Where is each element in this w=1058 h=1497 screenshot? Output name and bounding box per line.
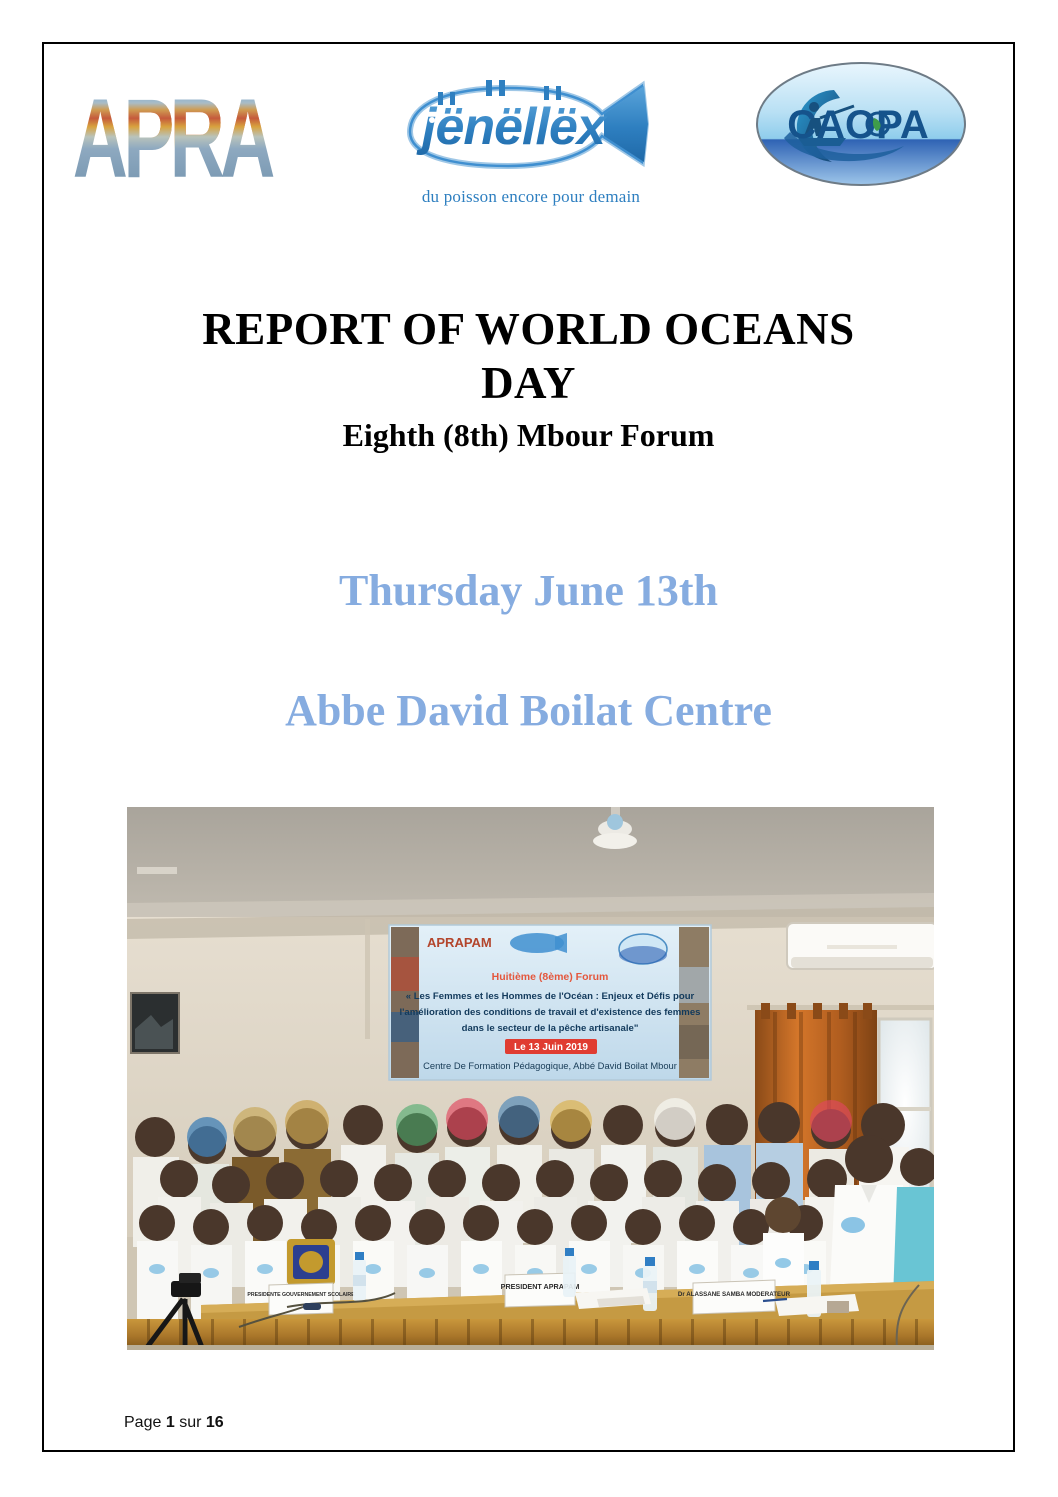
floor <box>127 1345 934 1350</box>
aprapam-logo: APRAPAM <box>64 58 284 218</box>
footer-middle: sur <box>179 1414 201 1431</box>
page-border: APRAPAM <box>42 42 1015 1452</box>
placard-1-label: PRESIDENTE GOUVERNEMENT SCOLAIRE <box>247 1292 355 1298</box>
banner-photo-strip-left <box>391 927 419 1078</box>
water-bottle-2 <box>563 1248 576 1297</box>
banner-theme-line1: « Les Femmes et les Hommes de l'Océan : … <box>406 991 695 1002</box>
water-bottle-1 <box>353 1252 366 1301</box>
caopa-wordmark-text: CAOPA <box>787 103 928 147</box>
jenellex-tagline: du poisson encore pour demain <box>366 187 696 207</box>
banner-heading: Huitième (8ème) Forum <box>492 971 609 983</box>
tripod-head <box>171 1281 201 1297</box>
jenellex-fish-icon: jënëllëx <box>396 62 664 187</box>
jenellex-diaeresis-4 <box>499 80 505 96</box>
event-photograph: APRAPAM Huitième (8ème) Forum « Les Femm… <box>127 807 934 1350</box>
caopa-badge-icon: CAOPA <box>754 60 969 188</box>
banner-date-badge: Le 13 Juin 2019 <box>514 1042 588 1053</box>
jenellex-wordmark-text: jënëllëx <box>416 98 608 156</box>
gold-chair <box>287 1239 335 1285</box>
caopa-logo: CAOPA <box>754 60 969 188</box>
air-conditioner-icon <box>787 923 934 969</box>
fish-eye-icon <box>429 117 435 123</box>
tripod-plate <box>179 1273 201 1283</box>
event-block: Thursday June 13th Abbe David Boilat Cen… <box>44 562 1013 740</box>
page-subtitle: Eighth (8th) Mbour Forum <box>44 414 1013 456</box>
banner-logo-aprapam: APRAPAM <box>427 935 492 950</box>
table-photo-print <box>827 1301 849 1313</box>
logo-header-row: APRAPAM <box>44 44 1013 249</box>
banner-theme-line2: l'amélioration des conditions de travail… <box>399 1007 700 1018</box>
aprapam-wordmark-text: APRAPAM <box>73 54 275 223</box>
banner-venue: Centre De Formation Pédagogique, Abbé Da… <box>423 1060 677 1071</box>
wall-seam <box>365 919 370 1039</box>
ceiling-fixture-left <box>137 867 177 874</box>
photo-scene: APRAPAM Huitième (8ème) Forum « Les Femm… <box>127 807 934 1350</box>
banner-theme-line3: dans le secteur de la pêche artisanale" <box>462 1023 639 1034</box>
cable-connector <box>303 1303 321 1310</box>
page-title-line2: DAY <box>44 356 1013 410</box>
event-date: Thursday June 13th <box>44 562 1013 620</box>
title-block: REPORT OF WORLD OCEANS DAY Eighth (8th) … <box>44 302 1013 456</box>
name-placard-3: Dr ALASSANE SAMBA MODERATEUR <box>678 1280 791 1314</box>
footer-total-pages: 16 <box>206 1414 224 1431</box>
event-banner: APRAPAM Huitième (8ème) Forum « Les Femm… <box>389 925 711 1080</box>
event-venue: Abbe David Boilat Centre <box>44 682 1013 740</box>
jenellex-logo: jënëllëx <box>396 62 664 187</box>
page-title-line1: REPORT OF WORLD OCEANS <box>44 302 1013 356</box>
jenellex-diaeresis-3 <box>486 80 492 96</box>
footer-current-page: 1 <box>166 1414 175 1431</box>
footer-prefix: Page <box>124 1414 161 1431</box>
placard-3-label: Dr ALASSANE SAMBA MODERATEUR <box>678 1291 791 1298</box>
page-footer: Page 1 sur 16 <box>124 1414 224 1432</box>
